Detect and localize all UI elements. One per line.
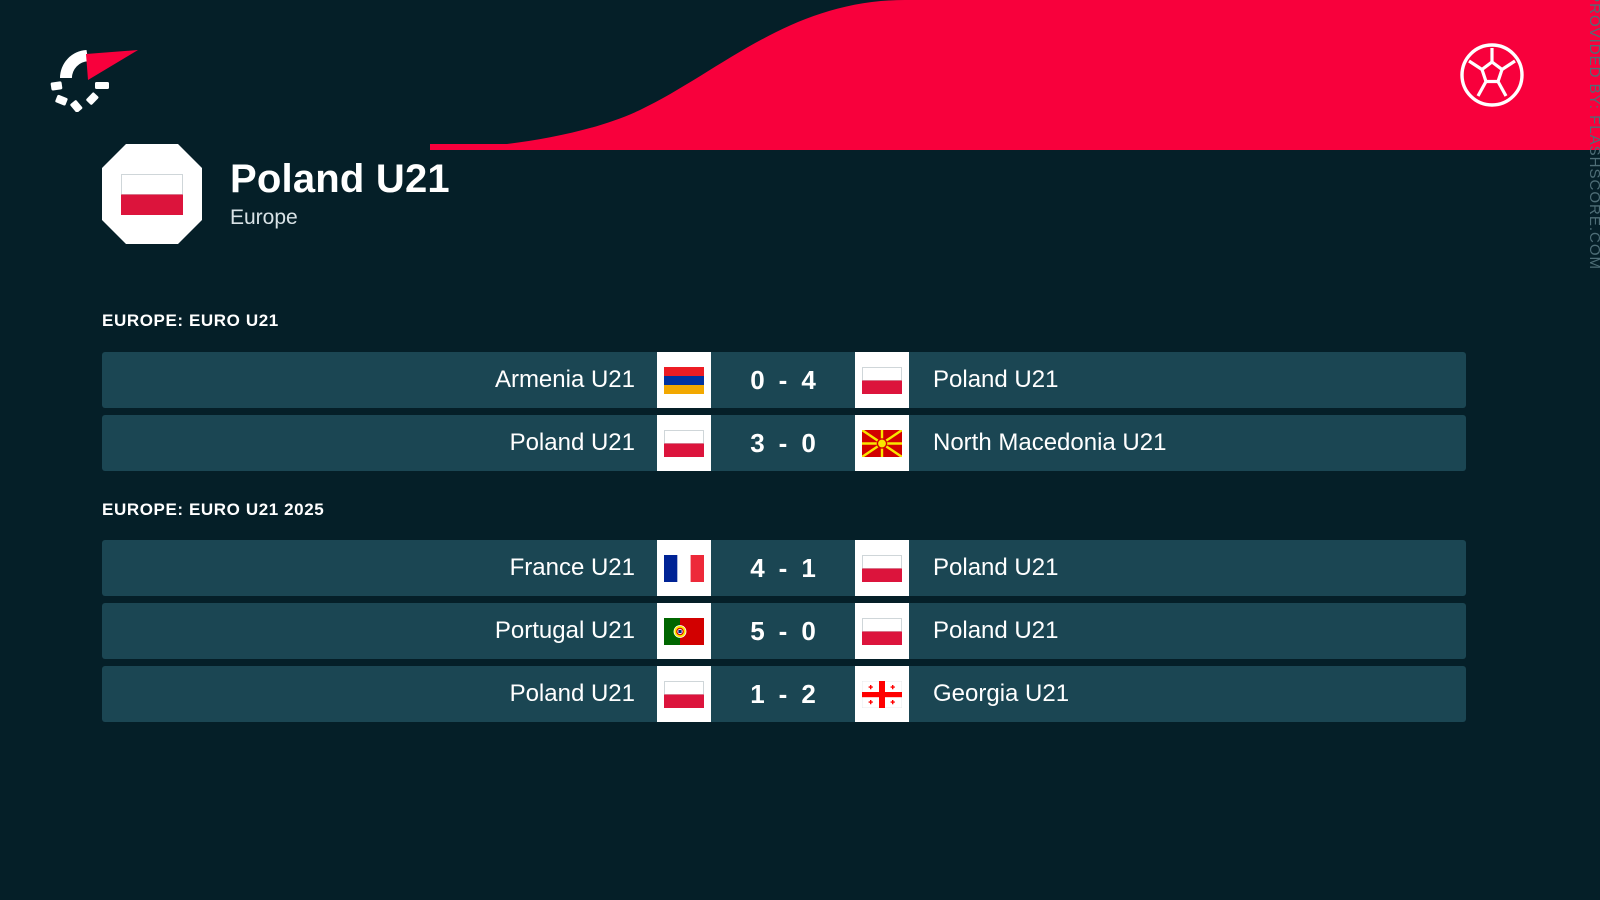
poland-flag-icon <box>855 352 909 408</box>
home-score: 3 <box>750 428 764 459</box>
data-provider-credit: DATA PROVIDED BY: FLASHSCORE.COM <box>1586 0 1600 270</box>
score-cell: 1 - 2 <box>711 666 855 722</box>
score-cell: 0 - 4 <box>711 352 855 408</box>
away-team-name: Poland U21 <box>909 603 1466 659</box>
north-macedonia-flag-icon <box>855 415 909 471</box>
poland-flag-icon <box>855 540 909 596</box>
team-badge <box>102 144 202 244</box>
score-separator: - <box>779 553 788 584</box>
page-root: Poland U21 Europe EUROPE: EURO U21 Armen… <box>0 0 1600 900</box>
page-title: Poland U21 <box>230 158 450 200</box>
away-score: 4 <box>801 365 815 396</box>
team-title-block: Poland U21 Europe <box>230 158 450 229</box>
table-row[interactable]: France U21 4 - 1 Poland U21 <box>102 540 1466 596</box>
table-row[interactable]: Poland U21 1 - 2 <box>102 666 1466 722</box>
home-team-name: Armenia U21 <box>102 352 657 408</box>
away-team-name: North Macedonia U21 <box>909 415 1466 471</box>
poland-flag-icon <box>657 666 711 722</box>
home-team-name: Poland U21 <box>102 666 657 722</box>
table-row[interactable]: Armenia U21 0 - 4 Poland U21 <box>102 352 1466 408</box>
away-team-name: Poland U21 <box>909 352 1466 408</box>
table-row[interactable]: Poland U21 3 - 0 <box>102 415 1466 471</box>
section-title-1: EUROPE: EURO U21 2025 <box>102 500 324 520</box>
home-team-name: Poland U21 <box>102 415 657 471</box>
soccer-ball-icon <box>1459 42 1525 108</box>
team-region: Europe <box>230 206 450 229</box>
section-title-0: EUROPE: EURO U21 <box>102 311 279 331</box>
banner-shape <box>0 0 1600 150</box>
flashscore-logo[interactable] <box>42 32 157 112</box>
score-cell: 4 - 1 <box>711 540 855 596</box>
home-score: 4 <box>750 553 764 584</box>
score-separator: - <box>779 616 788 647</box>
home-score: 5 <box>750 616 764 647</box>
away-score: 2 <box>801 679 815 710</box>
georgia-flag-icon <box>855 666 909 722</box>
armenia-flag-icon <box>657 352 711 408</box>
away-score: 0 <box>801 428 815 459</box>
away-score: 1 <box>801 553 815 584</box>
match-list-0: Armenia U21 0 - 4 Poland U21 <box>102 352 1466 478</box>
match-list-1: France U21 4 - 1 Poland U21 <box>102 540 1466 729</box>
score-separator: - <box>779 428 788 459</box>
team-header: Poland U21 Europe <box>102 144 450 244</box>
score-cell: 5 - 0 <box>711 603 855 659</box>
score-separator: - <box>779 679 788 710</box>
poland-flag-icon <box>855 603 909 659</box>
home-team-name: Portugal U21 <box>102 603 657 659</box>
away-team-name: Georgia U21 <box>909 666 1466 722</box>
home-score: 1 <box>750 679 764 710</box>
score-cell: 3 - 0 <box>711 415 855 471</box>
table-row[interactable]: Portugal U21 5 - 0 <box>102 603 1466 659</box>
score-separator: - <box>779 365 788 396</box>
away-team-name: Poland U21 <box>909 540 1466 596</box>
home-score: 0 <box>750 365 764 396</box>
portugal-flag-icon <box>657 603 711 659</box>
away-score: 0 <box>801 616 815 647</box>
poland-flag-icon <box>121 174 183 215</box>
poland-flag-icon <box>657 415 711 471</box>
home-team-name: France U21 <box>102 540 657 596</box>
france-flag-icon <box>657 540 711 596</box>
header-banner <box>0 0 1600 150</box>
